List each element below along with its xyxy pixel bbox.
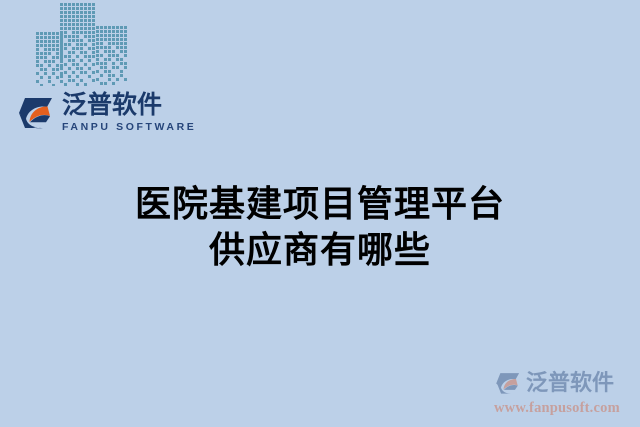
fanpu-emblem-icon	[494, 371, 522, 396]
promo-banner: 泛普软件 FANPU SOFTWARE 医院基建项目管理平台 供应商有哪些 泛普…	[0, 0, 640, 427]
brand-logo: 泛普软件 FANPU SOFTWARE	[16, 92, 196, 134]
watermark-logo-row: 泛普软件	[494, 367, 634, 399]
pixel-skyline-icon	[36, 0, 128, 86]
brand-name-cn: 泛普软件	[62, 93, 196, 118]
skyline-svg	[36, 0, 128, 86]
brand-name-en: FANPU SOFTWARE	[62, 121, 196, 134]
page-title: 医院基建项目管理平台 供应商有哪些	[0, 182, 640, 274]
watermark: 泛普软件 www.fanpusoft.com	[494, 367, 634, 419]
fanpu-emblem-icon	[16, 95, 56, 131]
watermark-url: www.fanpusoft.com	[494, 400, 634, 417]
brand-wordmark: 泛普软件 FANPU SOFTWARE	[62, 93, 196, 134]
page-title-line-2: 供应商有哪些	[0, 228, 640, 274]
page-title-line-1: 医院基建项目管理平台	[0, 182, 640, 228]
watermark-name-cn: 泛普软件	[526, 372, 614, 394]
